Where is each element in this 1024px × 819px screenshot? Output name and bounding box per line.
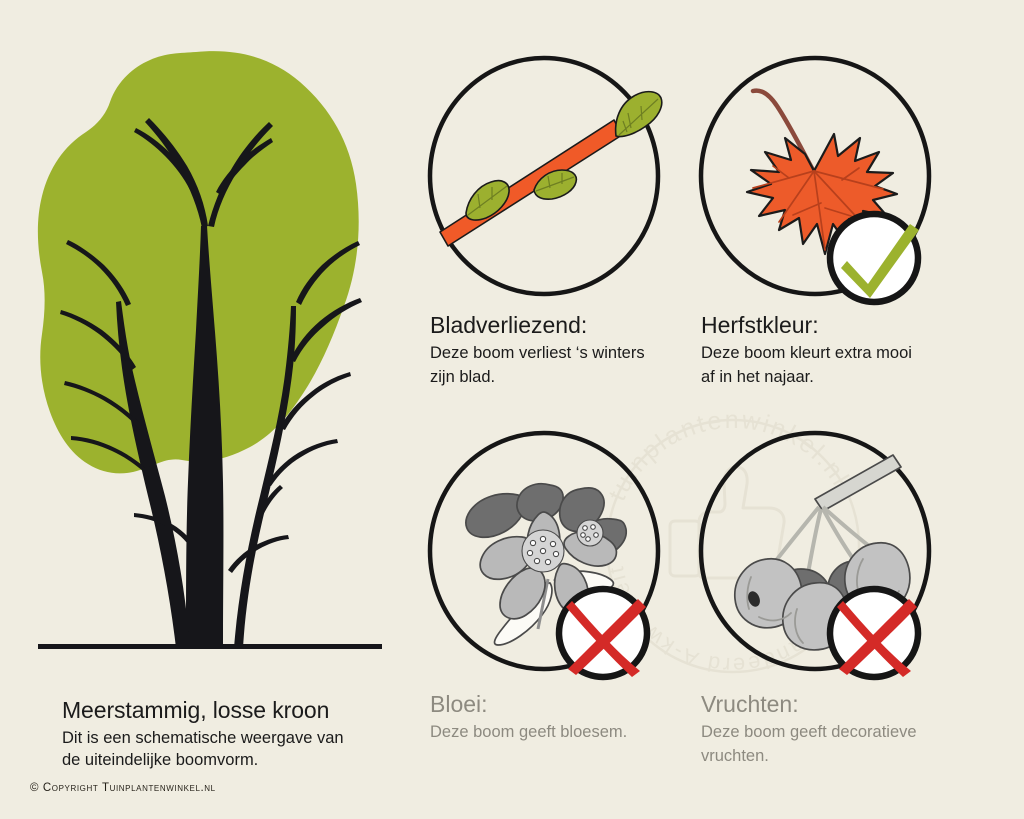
branch-with-leaves-icon (440, 92, 662, 246)
feature-body-herfstkleur: Deze boom kleurt extra mooi af in het na… (701, 342, 1001, 389)
feature-caption-herfstkleur: Herfstkleur: Deze boom kleurt extra mooi… (701, 313, 1001, 389)
feature-body-line2: af in het najaar. (701, 366, 1001, 389)
feature-icon-bladverliezend (426, 58, 666, 308)
feature-body-line2: vruchten. (701, 745, 1001, 768)
feature-body-line1: Deze boom geeft bloesem. (430, 721, 730, 744)
status-badge-check (830, 214, 919, 302)
feature-caption-vruchten: Vruchten: Deze boom geeft decoratieve vr… (701, 692, 1001, 768)
feature-title-vruchten: Vruchten: (701, 692, 1001, 717)
feature-icon-vruchten (697, 433, 937, 683)
tree-description-line2: de uiteindelijke boomvorm. (62, 750, 392, 772)
ground-line (38, 644, 382, 649)
tree-description-line1: Dit is een schematische weergave van (62, 728, 392, 750)
feature-icon-bloei (426, 433, 666, 683)
feature-body-line1: Deze boom verliest ‘s winters (430, 342, 730, 365)
feature-icon-herfstkleur (697, 58, 937, 308)
tree-title: Meerstammig, losse kroon (62, 697, 412, 724)
feature-body-vruchten: Deze boom geeft decoratieve vruchten. (701, 721, 1001, 768)
feature-title-bloei: Bloei: (430, 692, 730, 717)
feature-caption-bloei: Bloei: Deze boom geeft bloesem. (430, 692, 730, 745)
feature-title-herfstkleur: Herfstkleur: (701, 313, 1001, 338)
status-badge-cross (559, 589, 647, 677)
feature-body-bloei: Deze boom geeft bloesem. (430, 721, 730, 744)
feature-body-line2: zijn blad. (430, 366, 730, 389)
feature-body-line1: Deze boom kleurt extra mooi (701, 342, 1001, 365)
infographic-canvas: tuinplantenwinkel.nl gegarandeerd A-kwal… (0, 0, 1024, 819)
feature-body-line1: Deze boom geeft decoratieve (701, 721, 1001, 744)
feature-title-bladverliezend: Bladverliezend: (430, 313, 730, 338)
feature-caption-bladverliezend: Bladverliezend: Deze boom verliest ‘s wi… (430, 313, 730, 389)
status-badge-cross (830, 589, 918, 677)
tree-illustration (0, 30, 420, 670)
feature-body-bladverliezend: Deze boom verliest ‘s winters zijn blad. (430, 342, 730, 389)
tree-caption: Meerstammig, losse kroon Dit is een sche… (62, 697, 412, 772)
copyright-notice: © Copyright Tuinplantenwinkel.nl (30, 782, 216, 794)
tree-description: Dit is een schematische weergave van de … (62, 728, 392, 772)
